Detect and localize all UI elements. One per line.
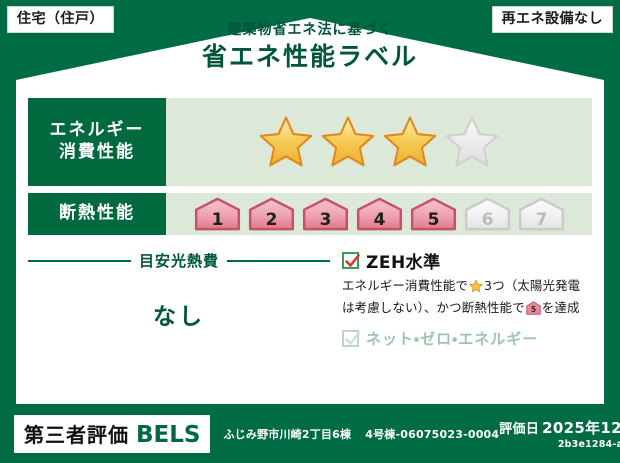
utility-cost-heading-text: 目安光熱費 xyxy=(139,250,219,271)
lower-section: 目安光熱費 なし ZEH水準 エネルギー消費性能で 3つ（太陽光発 xyxy=(28,242,592,349)
evaluation-info: 評価日2025年12月11日 2b3e1284-a73e-4d5c xyxy=(499,417,620,450)
roof-shape xyxy=(16,18,604,98)
house-level-number: 2 xyxy=(265,210,277,230)
zeh-desc-part1: エネルギー消費性能で xyxy=(342,278,468,293)
insulation-level-scale: 1234567 xyxy=(193,197,566,231)
check-icon-dim xyxy=(343,330,362,349)
house-level-number: 3 xyxy=(319,210,331,230)
star-filled-icon xyxy=(381,114,439,170)
house-level-empty-icon: 7 xyxy=(517,197,566,231)
bels-en-text: BELS xyxy=(136,422,200,448)
check-icon xyxy=(343,252,362,271)
star-rating xyxy=(257,114,501,170)
zeh-heading: ZEH水準 xyxy=(342,248,592,273)
energy-label-line2: 消費性能 xyxy=(59,142,135,164)
energy-performance-row: エネルギー 消費性能 xyxy=(28,98,592,186)
utility-cost-block: 目安光熱費 なし xyxy=(28,242,330,349)
net-zero-energy-checkbox[interactable] xyxy=(342,330,359,347)
evaluation-hash: 2b3e1284-a73e-4d5c xyxy=(499,439,620,450)
house-level-filled-icon: 4 xyxy=(355,197,404,231)
address-text: ふじみ野市川崎2丁目6棟 xyxy=(223,428,351,441)
zeh-description: エネルギー消費性能で 3つ（太陽光発電 は考慮しない）、かつ断熱性能で 5 を達… xyxy=(342,277,592,320)
star-empty-icon xyxy=(443,114,501,170)
evaluation-date: 評価日2025年12月11日 xyxy=(499,417,620,438)
house-level-number: 5 xyxy=(427,210,439,230)
zeh-desc-part3: を達成 xyxy=(542,300,580,315)
evaluation-date-label: 評価日 xyxy=(499,422,539,437)
house-level-empty-icon: 6 xyxy=(463,197,512,231)
house-level-filled-icon: 5 xyxy=(409,197,458,231)
property-address: ふじみ野市川崎2丁目6棟 4号棟-06075023-0004 xyxy=(223,426,499,442)
zeh-title: ZEH水準 xyxy=(366,248,441,273)
zeh-block: ZEH水準 エネルギー消費性能で 3つ（太陽光発電 は考慮しない）、かつ断熱性能… xyxy=(330,242,592,349)
house-level-filled-icon: 3 xyxy=(301,197,350,231)
house-level-number: 6 xyxy=(481,210,493,230)
energy-label-line1: エネルギー xyxy=(50,120,145,142)
zeh-desc-star-count: 3つ（太陽光発電 xyxy=(484,278,580,293)
lot-number: 4号棟-06075023-0004 xyxy=(365,428,499,441)
house-level-filled-icon: 1 xyxy=(193,197,242,231)
zeh-checkbox[interactable] xyxy=(342,252,359,269)
house-level-number: 1 xyxy=(211,210,223,230)
svg-text:5: 5 xyxy=(531,305,536,314)
star-filled-icon xyxy=(319,114,377,170)
inline-house-icon: 5 xyxy=(526,301,541,321)
net-zero-energy-row: ネット・ゼロ・エネルギー xyxy=(342,328,592,349)
house-level-number: 4 xyxy=(373,210,385,230)
star-filled-icon xyxy=(257,114,315,170)
energy-performance-value xyxy=(166,98,592,186)
footer: 第三者評価 BELS ふじみ野市川崎2丁目6棟 4号棟-06075023-000… xyxy=(0,404,620,463)
house-level-number: 7 xyxy=(535,210,547,230)
insulation-performance-label: 断熱性能 xyxy=(28,193,166,235)
roof-icon xyxy=(16,18,604,98)
net-zero-energy-label: ネット・ゼロ・エネルギー xyxy=(366,328,538,349)
insulation-performance-value: 1234567 xyxy=(166,193,592,235)
energy-performance-label: エネルギー 消費性能 xyxy=(28,98,166,186)
label-card: エネルギー 消費性能 断熱性能 1234567 目安光熱費 なし xyxy=(16,88,604,404)
insulation-performance-row: 断熱性能 1234567 xyxy=(28,193,592,235)
utility-cost-value: なし xyxy=(28,297,330,331)
rule-left xyxy=(28,260,131,262)
evaluation-date-value: 2025年12月11日 xyxy=(542,419,620,437)
inline-star-icon xyxy=(469,279,483,299)
utility-cost-heading: 目安光熱費 xyxy=(28,250,330,271)
rule-right xyxy=(227,260,330,262)
house-level-filled-icon: 2 xyxy=(247,197,296,231)
zeh-desc-part2: は考慮しない）、かつ断熱性能で xyxy=(342,300,525,315)
bels-logo: 第三者評価 BELS xyxy=(14,415,210,453)
bels-jp-text: 第三者評価 xyxy=(24,419,129,448)
